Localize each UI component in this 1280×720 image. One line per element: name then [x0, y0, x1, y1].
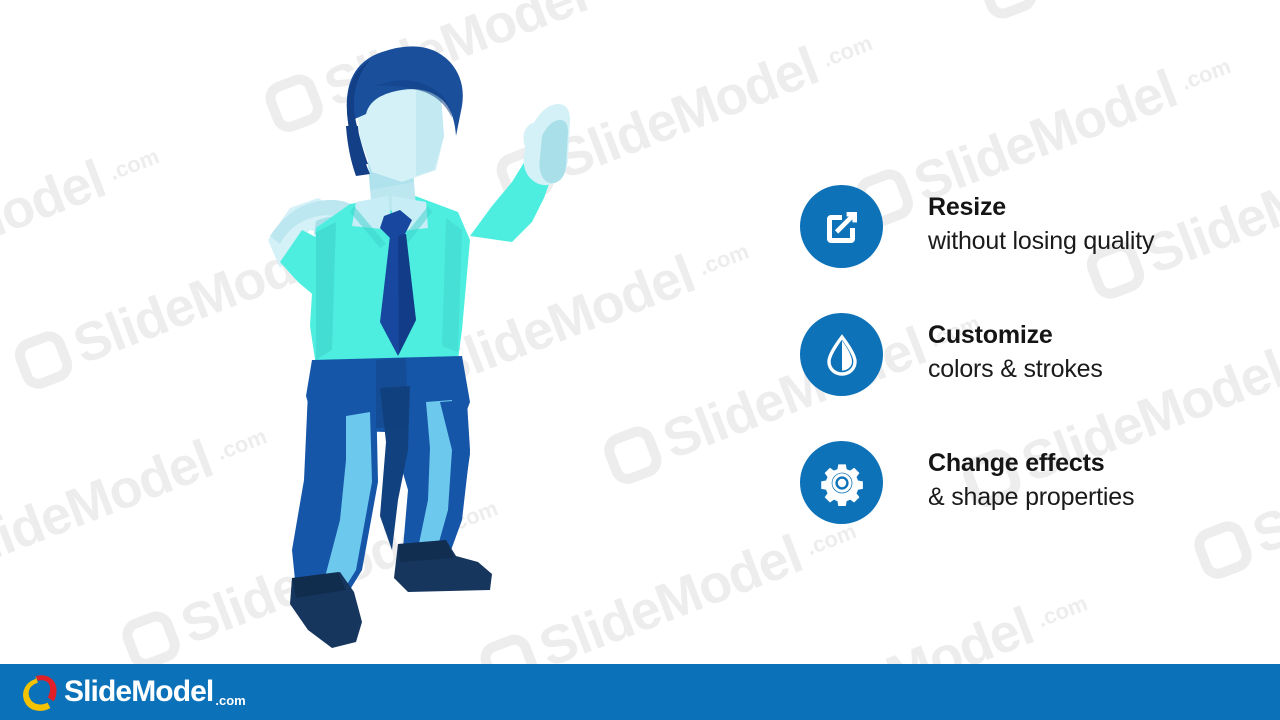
watermark-tld-text: .com: [819, 30, 876, 73]
logo-tld-text: .com: [215, 693, 245, 711]
customize-icon-badge[interactable]: [800, 313, 883, 396]
slide-canvas: SlideModel.comSlideModel.comSlideModel.c…: [0, 0, 1280, 720]
feature-title: Resize: [928, 193, 1154, 223]
watermark-tld-text: .com: [588, 0, 645, 1]
feature-item-change-effects[interactable]: Change effects & shape properties: [800, 441, 1230, 524]
watermark-logo-icon: [1189, 517, 1256, 584]
feature-subtitle: & shape properties: [928, 481, 1134, 514]
feature-subtitle: colors & strokes: [928, 353, 1103, 386]
businessman-illustration: [140, 30, 570, 650]
logo-brand-text: SlideModel: [64, 677, 213, 707]
watermark-brand-text: SlideModel: [1031, 0, 1280, 3]
feature-text-resize: Resize without losing quality: [928, 185, 1154, 257]
watermark-brand-text: SlideModel: [549, 39, 825, 188]
feature-title: Customize: [928, 321, 1103, 351]
feature-text-customize: Customize colors & strokes: [928, 313, 1103, 385]
watermark-tld-text: .com: [695, 238, 752, 281]
gear-icon: [819, 460, 865, 506]
change-effects-icon-badge[interactable]: [800, 441, 883, 524]
feature-list: Resize without losing quality Customize …: [800, 185, 1230, 524]
watermark-brand-text: SlideModel: [1246, 414, 1280, 563]
watermark-brand-text: SlideModel: [0, 152, 112, 301]
watermark-logo-icon: [974, 0, 1041, 24]
watermark-tld-text: .com: [803, 518, 860, 561]
droplet-fill-icon: [819, 332, 865, 378]
watermark-logo-icon: [10, 326, 77, 393]
feature-subtitle: without losing quality: [928, 225, 1154, 258]
feature-title: Change effects: [928, 449, 1134, 479]
resize-icon-badge[interactable]: [800, 185, 883, 268]
footer-bar: SlideModel .com: [0, 664, 1280, 720]
watermark-item: SlideModel.com: [974, 0, 1280, 24]
watermark-tld-text: .com: [1034, 590, 1091, 633]
watermark-logo-icon: [600, 421, 667, 488]
feature-item-resize[interactable]: Resize without losing quality: [800, 185, 1230, 268]
watermark-tld-text: .com: [1177, 53, 1234, 96]
slidemodel-logo-icon: [22, 673, 60, 711]
slidemodel-logo[interactable]: SlideModel .com: [22, 673, 246, 711]
feature-item-customize[interactable]: Customize colors & strokes: [800, 313, 1230, 396]
resize-external-link-icon: [819, 204, 865, 250]
feature-text-change-effects: Change effects & shape properties: [928, 441, 1134, 513]
watermark-brand-text: SlideModel: [533, 527, 809, 676]
